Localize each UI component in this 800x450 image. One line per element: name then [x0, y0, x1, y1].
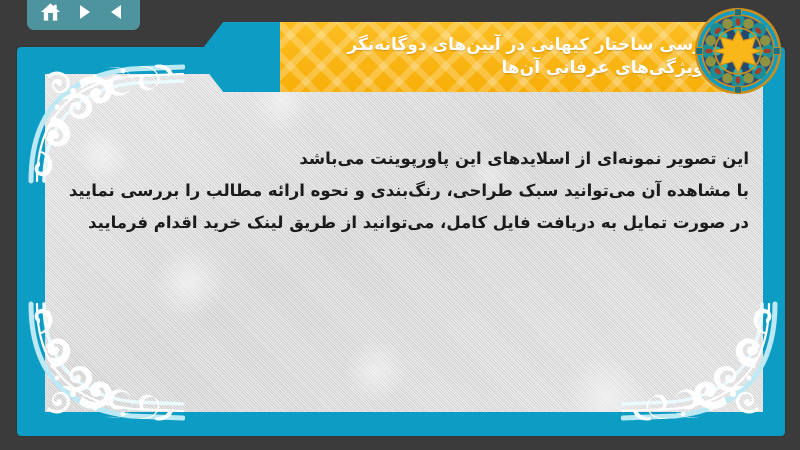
slide-content-area: [45, 74, 763, 412]
previous-slide-button[interactable]: [103, 0, 131, 25]
home-icon: [40, 2, 61, 22]
next-slide-button[interactable]: [70, 0, 98, 25]
body-line-2: با مشاهده آن می‌توانید سبک طراحی، رنگ‌بن…: [49, 175, 749, 207]
body-line-1: این تصویر نمونه‌ای از اسلایدهای این پاور…: [49, 143, 749, 175]
banner-gold-panel: بررسی ساختار کیهانی در آیین‌های دوگانه‌ن…: [280, 22, 736, 92]
slide-canvas: این تصویر نمونه‌ای از اسلایدهای این پاور…: [0, 0, 800, 450]
triangle-left-icon: [108, 3, 126, 21]
medallion-ornament-icon: [694, 7, 782, 95]
slide-title: بررسی ساختار کیهانی در آیین‌های دوگانه‌ن…: [290, 34, 720, 81]
banner-chevron-tail: [196, 22, 281, 92]
slide-navigation-bar[interactable]: [27, 0, 140, 30]
slide-frame: این تصویر نمونه‌ای از اسلایدهای این پاور…: [17, 47, 785, 436]
home-button[interactable]: [36, 0, 64, 25]
triangle-right-icon: [75, 3, 93, 21]
title-banner: بررسی ساختار کیهانی در آیین‌های دوگانه‌ن…: [196, 22, 736, 92]
slide-body-text: این تصویر نمونه‌ای از اسلایدهای این پاور…: [49, 143, 749, 240]
body-line-3: در صورت تمایل به دریافت فایل کامل، می‌تو…: [49, 207, 749, 239]
